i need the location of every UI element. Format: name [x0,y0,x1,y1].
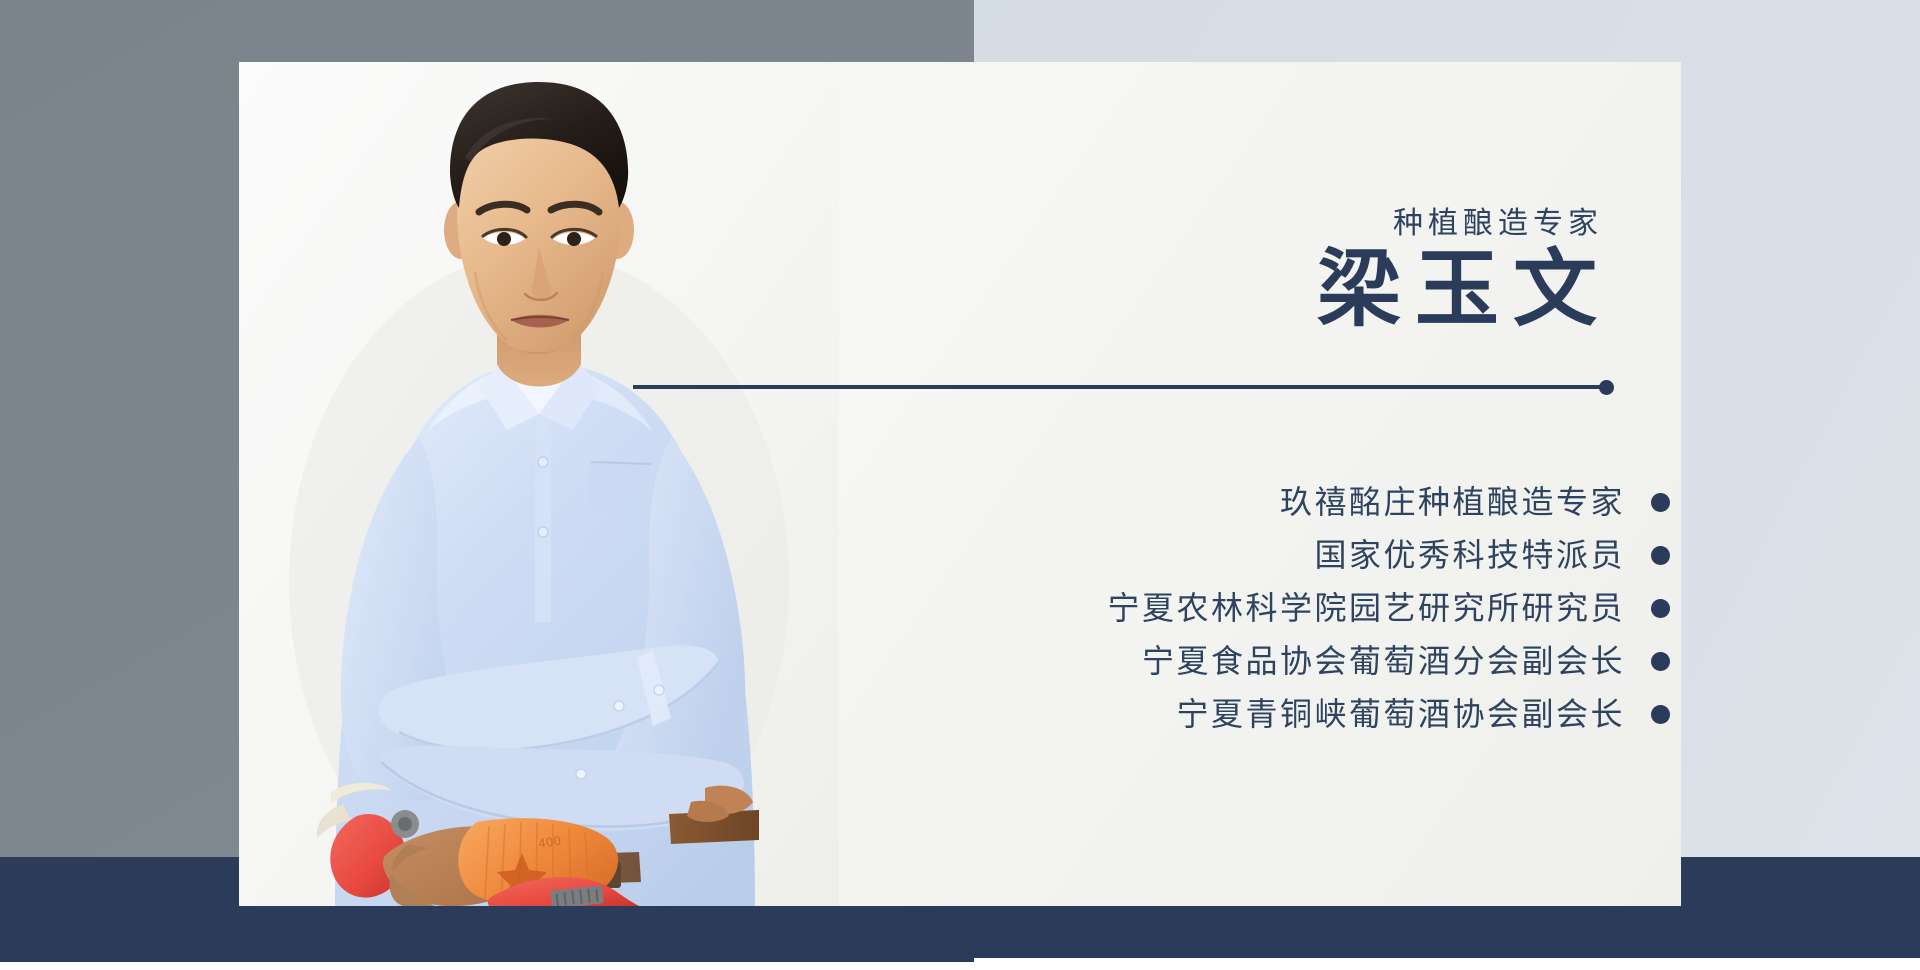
divider [633,380,1628,394]
credential-label: 宁夏农林科学院园艺研究所研究员 [1107,592,1625,624]
filled-circle-bullet-icon [1651,599,1670,618]
credential-item: 宁夏农林科学院园艺研究所研究员 [1107,592,1670,624]
credential-list: 玖禧酩庄种植酿造专家国家优秀科技特派员宁夏农林科学院园艺研究所研究员宁夏食品协会… [570,486,1670,730]
background-bottom-white-strip [0,962,1920,970]
filled-circle-bullet-icon [1651,652,1670,671]
role-eyebrow: 种植酿造专家 [1393,198,1603,242]
portrait-photo: 400 [239,62,839,906]
person-name: 梁玉文 [1317,244,1611,338]
divider-line [633,385,1607,389]
filled-circle-bullet-icon [1651,493,1670,512]
credential-label: 宁夏青铜峡葡萄酒协会副会长 [1176,698,1625,730]
credential-item: 宁夏食品协会葡萄酒分会副会长 [1142,645,1670,677]
credential-label: 国家优秀科技特派员 [1314,539,1625,571]
credential-item: 宁夏青铜峡葡萄酒协会副会长 [1176,698,1670,730]
credential-label: 玖禧酩庄种植酿造专家 [1280,486,1625,518]
divider-end-dot-icon [1599,380,1614,395]
credential-item: 国家优秀科技特派员 [1314,539,1670,571]
filled-circle-bullet-icon [1651,705,1670,724]
filled-circle-bullet-icon [1651,546,1670,565]
credential-item: 玖禧酩庄种植酿造专家 [1280,486,1670,518]
credential-label: 宁夏食品协会葡萄酒分会副会长 [1142,645,1625,677]
